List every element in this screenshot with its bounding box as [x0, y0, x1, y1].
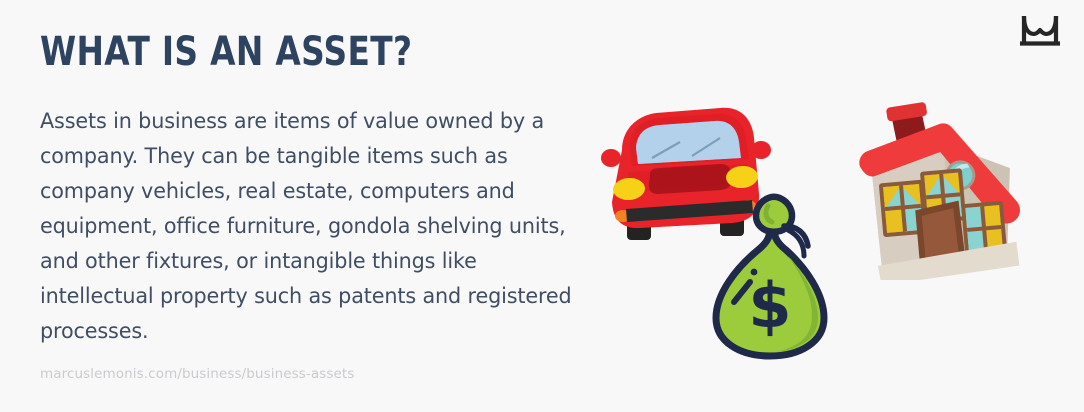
brand-logo — [1018, 12, 1062, 52]
page-title: WHAT IS AN ASSET? — [40, 30, 412, 74]
body-paragraph: Assets in business are items of value ow… — [40, 104, 580, 349]
infographic-card: WHAT IS AN ASSET? Assets in business are… — [0, 0, 1084, 412]
money-bag-icon: $ — [706, 190, 846, 362]
m-monogram-icon — [1018, 12, 1062, 52]
house-icon — [852, 100, 1032, 280]
dollar-sign-glyph: $ — [748, 269, 791, 342]
source-url: marcuslemonis.com/business/business-asse… — [40, 365, 354, 383]
